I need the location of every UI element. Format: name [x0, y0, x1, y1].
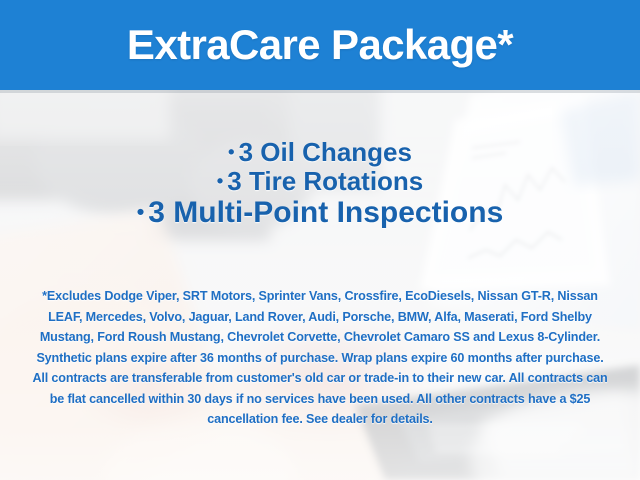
benefit-item-label: 3 Multi-Point Inspections	[148, 196, 503, 229]
disclaimer-text: *Excludes Dodge Viper, SRT Motors, Sprin…	[28, 286, 612, 430]
benefit-item-tire-rotations: •3 Tire Rotations	[0, 167, 640, 196]
benefit-item-multi-point-inspections: •3 Multi-Point Inspections	[0, 196, 640, 230]
page-title: ExtraCare Package*	[127, 24, 513, 66]
banner-bottom-edge	[0, 90, 640, 93]
benefit-item-oil-changes: •3 Oil Changes	[0, 138, 640, 167]
bullet-icon: •	[137, 199, 149, 224]
bullet-icon: •	[228, 141, 239, 162]
extracare-package-ad: ExtraCare Package* •3 Oil Changes •3 Tir…	[0, 0, 640, 480]
benefits-list: •3 Oil Changes •3 Tire Rotations •3 Mult…	[0, 138, 640, 230]
bullet-icon: •	[217, 170, 228, 191]
benefit-item-label: 3 Tire Rotations	[227, 166, 423, 196]
header-banner: ExtraCare Package*	[0, 0, 640, 90]
benefit-item-label: 3 Oil Changes	[239, 137, 412, 167]
